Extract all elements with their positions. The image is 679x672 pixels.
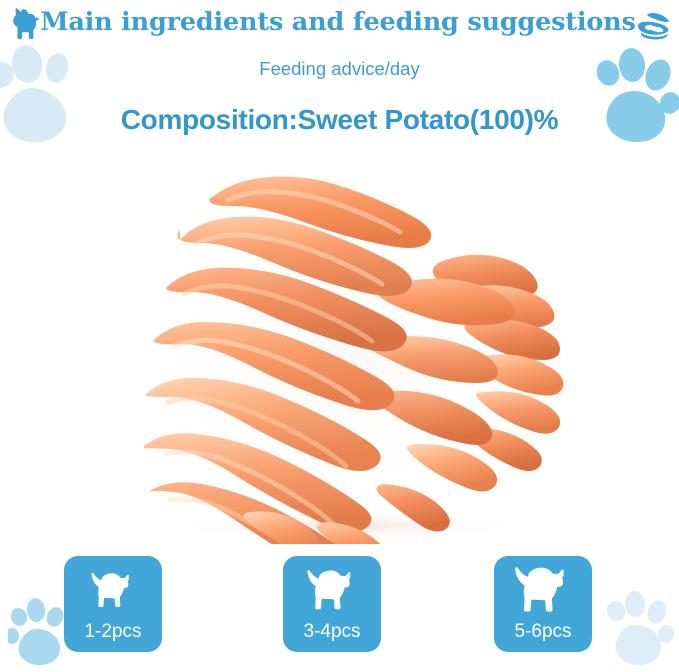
feeding-badge-medium-dog[interactable]: 3-4pcs <box>283 556 381 652</box>
dog-sitting-icon <box>9 8 39 40</box>
feeding-badges-row: 1-2pcs 3-4pcs <box>0 556 679 656</box>
large-dog-icon <box>494 556 592 622</box>
feeding-badge-small-dog[interactable]: 1-2pcs <box>64 556 162 652</box>
page-title: Main ingredients and feeding suggestions <box>40 10 635 36</box>
feeding-badge-label: 3-4pcs <box>303 622 360 652</box>
feeding-badge-label: 5-6pcs <box>514 622 571 652</box>
feeding-badge-large-dog[interactable]: 5-6pcs <box>494 556 592 652</box>
header-title-row: Main ingredients and feeding suggestions <box>0 2 679 44</box>
feeding-badge-label: 1-2pcs <box>84 622 141 652</box>
feeding-advice-subtitle: Feeding advice/day <box>0 58 679 80</box>
medium-dog-icon <box>283 556 381 622</box>
infographic-page: Main ingredients and feeding suggestions… <box>0 0 679 672</box>
composition-heading: Composition:Sweet Potato(100)% <box>0 104 679 136</box>
product-photo-sweet-potato-strips <box>88 144 592 544</box>
dog-food-bowl-icon <box>636 12 670 40</box>
small-dog-icon <box>64 556 162 622</box>
